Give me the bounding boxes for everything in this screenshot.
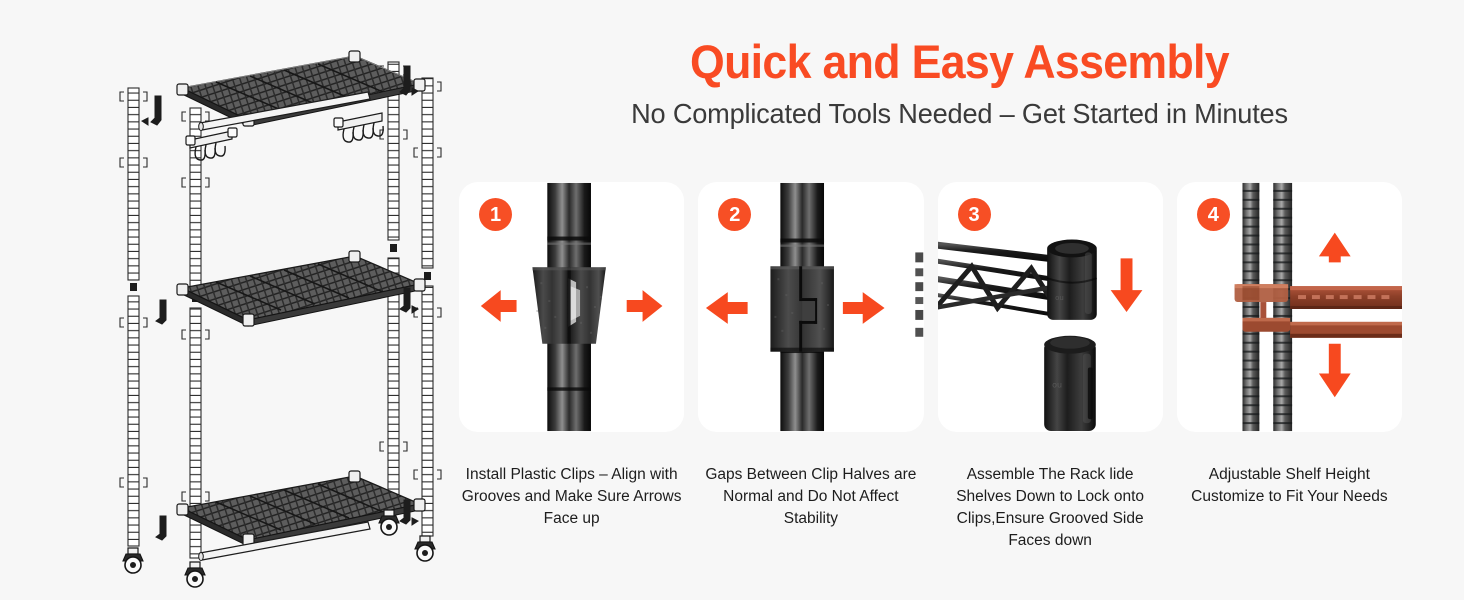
step-badge-1: 1 bbox=[479, 198, 512, 231]
step-captions: Install Plastic Clips – Align with Groov… bbox=[459, 464, 1402, 552]
step-caption-1: Install Plastic Clips – Align with Groov… bbox=[459, 464, 684, 552]
exploded-assembly-diagram bbox=[0, 0, 455, 600]
step-card-3: 3 bbox=[938, 182, 1163, 432]
step-cards: 1 bbox=[459, 182, 1402, 432]
instructions-panel: Quick and Easy Assembly No Complicated T… bbox=[455, 0, 1464, 600]
infographic-canvas: Quick and Easy Assembly No Complicated T… bbox=[0, 0, 1464, 600]
page-subtitle: No Complicated Tools Needed – Get Starte… bbox=[470, 98, 1449, 130]
svg-text:ou: ou bbox=[1052, 380, 1062, 389]
step-card-2: 2 bbox=[698, 182, 923, 432]
step-badge-3: 3 bbox=[958, 198, 991, 231]
step-card-4: 4 bbox=[1177, 182, 1402, 432]
step-badge-4: 4 bbox=[1197, 198, 1230, 231]
page-title: Quick and Easy Assembly bbox=[480, 34, 1439, 89]
step-caption-3: Assemble The Rack lide Shelves Down to L… bbox=[938, 464, 1163, 552]
svg-text:ou: ou bbox=[1055, 294, 1064, 302]
step-caption-2: Gaps Between Clip Halves are Normal and … bbox=[698, 464, 923, 552]
step-caption-4: Adjustable Shelf Height Customize to Fit… bbox=[1177, 464, 1402, 552]
step-card-1: 1 bbox=[459, 182, 684, 432]
